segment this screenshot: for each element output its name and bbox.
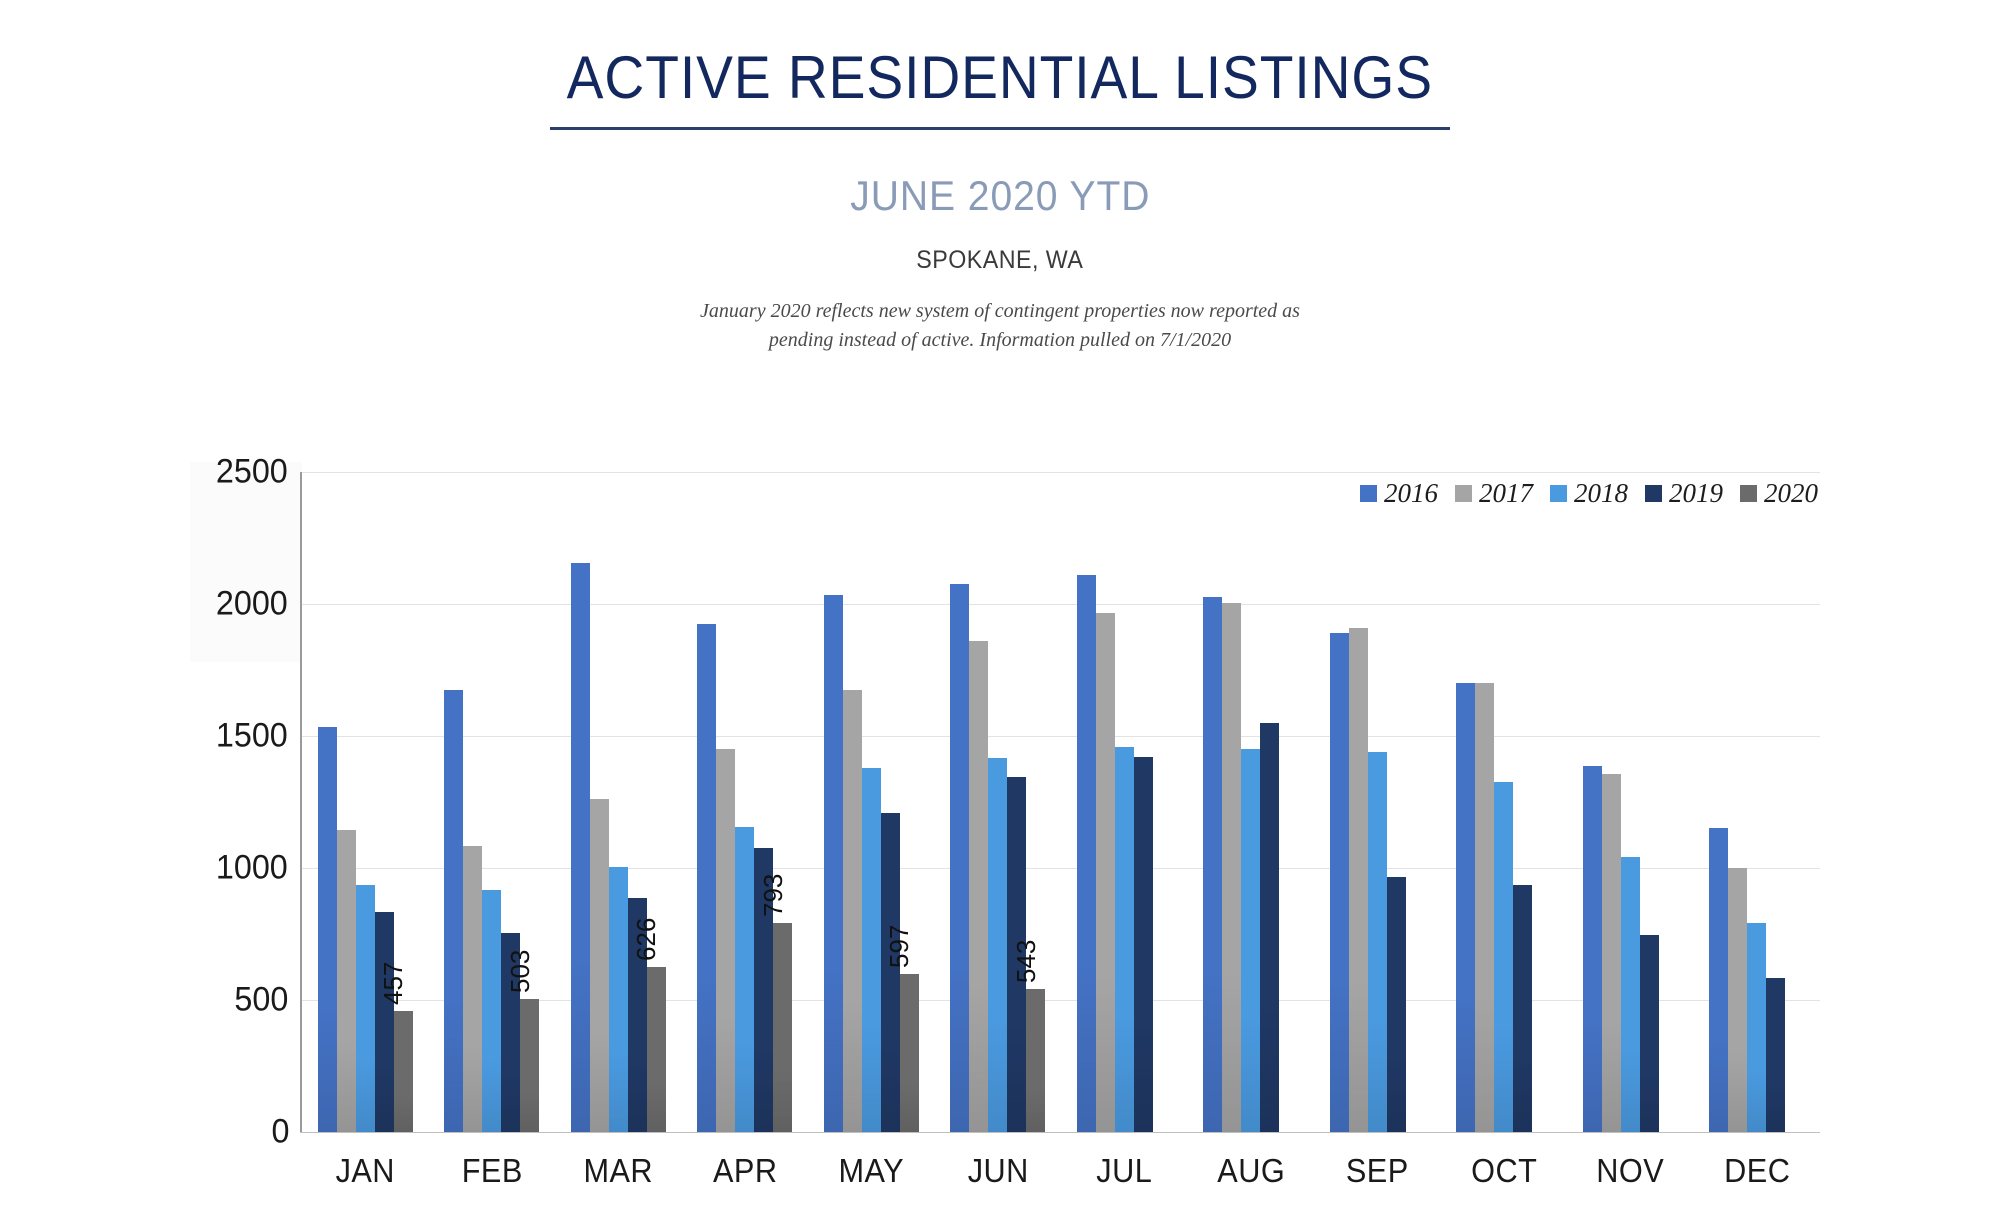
bar-2016-sep[interactable] — [1330, 633, 1349, 1132]
bar-fill — [773, 923, 792, 1132]
bar-fill — [1513, 885, 1532, 1132]
bar-2017-apr[interactable] — [716, 749, 735, 1132]
chart-subtitle: JUNE 2020 YTD — [850, 172, 1150, 220]
bar-fill — [862, 768, 881, 1132]
bar-2016-aug[interactable] — [1203, 597, 1222, 1132]
bar-fill — [1368, 752, 1387, 1132]
chart-header: ACTIVE RESIDENTIAL LISTINGS JUNE 2020 YT… — [0, 0, 2000, 355]
bar-2017-oct[interactable] — [1475, 683, 1494, 1132]
bar-fill — [571, 563, 590, 1132]
bar-fill — [356, 885, 375, 1132]
bar-group-jun: 543 — [935, 472, 1062, 1132]
bar-2018-dec[interactable] — [1747, 923, 1766, 1132]
bar-group-mar: 626 — [555, 472, 682, 1132]
chart-note: January 2020 reflects new system of cont… — [620, 297, 1380, 355]
bar-fill — [1583, 766, 1602, 1132]
bar-2020-jan[interactable]: 457 — [394, 1011, 413, 1132]
bar-fill — [1115, 747, 1134, 1132]
bar-2016-mar[interactable] — [571, 563, 590, 1132]
bar-2018-may[interactable] — [862, 768, 881, 1132]
bar-fill — [1349, 628, 1368, 1132]
bar-fill — [1747, 923, 1766, 1132]
bar-fill — [444, 690, 463, 1132]
page-title: ACTIVE RESIDENTIAL LISTINGS — [567, 46, 1433, 109]
x-tick-label-jul: JUL — [1065, 1152, 1183, 1190]
bar-group-may: 597 — [808, 472, 935, 1132]
bar-fill — [824, 595, 843, 1132]
bar-2016-oct[interactable] — [1456, 683, 1475, 1132]
bar-2018-mar[interactable] — [609, 867, 628, 1132]
bar-group-aug — [1188, 472, 1315, 1132]
bar-2019-may[interactable] — [881, 813, 900, 1132]
bar-2019-jul[interactable] — [1134, 757, 1153, 1132]
bar-fill — [1077, 575, 1096, 1132]
bar-2019-dec[interactable] — [1766, 978, 1785, 1132]
bar-fill — [375, 912, 394, 1132]
bar-group-dec — [1694, 472, 1821, 1132]
bar-fill — [1602, 774, 1621, 1132]
bar-2016-jan[interactable] — [318, 727, 337, 1132]
x-tick-label-mar: MAR — [559, 1152, 677, 1190]
x-tick-label-jan: JAN — [306, 1152, 424, 1190]
chart-note-line-2: pending instead of active. Information p… — [620, 326, 1380, 355]
bar-fill — [1096, 613, 1115, 1132]
bar-group-jul — [1061, 472, 1188, 1132]
bar-fill — [1260, 723, 1279, 1132]
bar-2019-oct[interactable] — [1513, 885, 1532, 1132]
x-tick-label-sep: SEP — [1318, 1152, 1436, 1190]
bar-2016-jul[interactable] — [1077, 575, 1096, 1132]
bar-2017-mar[interactable] — [590, 799, 609, 1132]
x-tick-label-apr: APR — [686, 1152, 804, 1190]
bar-fill — [609, 867, 628, 1132]
bar-2020-apr[interactable]: 793 — [773, 923, 792, 1132]
bar-fill — [1330, 633, 1349, 1132]
bar-2017-dec[interactable] — [1728, 868, 1747, 1132]
bar-group-sep — [1314, 472, 1441, 1132]
y-axis-tick-labels: 05001000150020002500 — [155, 472, 290, 1132]
bar-fill — [1728, 868, 1747, 1132]
bar-fill — [647, 967, 666, 1132]
bar-fill — [1766, 978, 1785, 1132]
bar-2018-jan[interactable] — [356, 885, 375, 1132]
bar-2020-may[interactable]: 597 — [900, 974, 919, 1132]
x-tick-label-jun: JUN — [939, 1152, 1057, 1190]
bar-fill — [1621, 857, 1640, 1132]
chart-container: 05001000150020002500 457503626793597543 … — [0, 452, 2000, 1227]
bar-2017-nov[interactable] — [1602, 774, 1621, 1132]
bar-fill — [1387, 877, 1406, 1132]
bar-2017-jun[interactable] — [969, 641, 988, 1132]
bar-value-label: 543 — [1011, 939, 1042, 982]
bar-2019-aug[interactable] — [1260, 723, 1279, 1132]
bar-2017-may[interactable] — [843, 690, 862, 1132]
bar-fill — [1203, 597, 1222, 1132]
bar-value-label: 626 — [631, 917, 662, 960]
bar-fill — [843, 690, 862, 1132]
bar-fill — [1222, 603, 1241, 1132]
chart-note-line-1: January 2020 reflects new system of cont… — [620, 297, 1380, 326]
bar-2020-feb[interactable]: 503 — [520, 999, 539, 1132]
bars-plot: 457503626793597543 — [302, 472, 1820, 1132]
bar-fill — [881, 813, 900, 1132]
bar-fill — [482, 890, 501, 1132]
bar-2018-nov[interactable] — [1621, 857, 1640, 1132]
bar-2018-jul[interactable] — [1115, 747, 1134, 1132]
bar-group-jan: 457 — [302, 472, 429, 1132]
y-tick-label: 500 — [235, 981, 289, 1020]
bar-2018-sep[interactable] — [1368, 752, 1387, 1132]
bar-value-label: 597 — [884, 925, 915, 968]
bar-fill — [520, 999, 539, 1132]
bar-group-oct — [1441, 472, 1568, 1132]
bar-2016-dec[interactable] — [1709, 828, 1728, 1132]
bar-fill — [463, 846, 482, 1132]
y-tick-label: 1000 — [216, 849, 288, 888]
bar-2020-jun[interactable]: 543 — [1026, 989, 1045, 1132]
x-tick-label-feb: FEB — [433, 1152, 551, 1190]
bar-group-feb: 503 — [429, 472, 556, 1132]
x-tick-label-dec: DEC — [1698, 1152, 1816, 1190]
bar-fill — [697, 624, 716, 1132]
x-tick-label-nov: NOV — [1571, 1152, 1689, 1190]
bar-fill — [1640, 935, 1659, 1132]
bar-group-nov — [1567, 472, 1694, 1132]
bar-fill — [590, 799, 609, 1132]
bar-2016-apr[interactable] — [697, 624, 716, 1132]
bar-fill — [1456, 683, 1475, 1132]
bar-group-apr: 793 — [682, 472, 809, 1132]
bar-2020-mar[interactable]: 626 — [647, 967, 666, 1132]
bar-fill — [1026, 989, 1045, 1132]
gridline — [300, 1132, 1820, 1133]
bar-fill — [1134, 757, 1153, 1132]
bar-value-label: 457 — [378, 962, 409, 1005]
bar-value-label: 503 — [505, 950, 536, 993]
bar-2019-sep[interactable] — [1387, 877, 1406, 1132]
y-tick-label: 2500 — [216, 453, 288, 492]
bar-2018-aug[interactable] — [1241, 749, 1260, 1132]
bar-fill — [394, 1011, 413, 1132]
plot-area: 05001000150020002500 457503626793597543 — [300, 472, 1820, 1152]
bar-2017-jul[interactable] — [1096, 613, 1115, 1132]
bar-value-label: 793 — [758, 873, 789, 916]
bar-fill — [318, 727, 337, 1132]
subtitle-wrap: JUNE 2020 YTD — [0, 130, 2000, 220]
bar-fill — [1494, 782, 1513, 1132]
x-tick-label-may: MAY — [812, 1152, 930, 1190]
x-tick-label-aug: AUG — [1192, 1152, 1310, 1190]
bar-fill — [716, 749, 735, 1132]
bar-2016-jun[interactable] — [950, 584, 969, 1132]
bar-2019-nov[interactable] — [1640, 935, 1659, 1132]
bar-fill — [950, 584, 969, 1132]
bar-fill — [735, 827, 754, 1132]
bar-2016-feb[interactable] — [444, 690, 463, 1132]
bar-fill — [337, 830, 356, 1132]
bar-fill — [1475, 683, 1494, 1132]
bar-fill — [1709, 828, 1728, 1132]
y-tick-label: 0 — [272, 1113, 290, 1152]
bar-2018-apr[interactable] — [735, 827, 754, 1132]
bar-2017-aug[interactable] — [1222, 603, 1241, 1132]
chart-location: SPOKANE, WA — [916, 246, 1083, 275]
x-tick-label-oct: OCT — [1445, 1152, 1563, 1190]
y-tick-label: 2000 — [216, 585, 288, 624]
bar-2016-nov[interactable] — [1583, 766, 1602, 1132]
y-tick-label: 1500 — [216, 717, 288, 756]
bar-2018-oct[interactable] — [1494, 782, 1513, 1132]
bar-2017-sep[interactable] — [1349, 628, 1368, 1132]
city-wrap: SPOKANE, WA — [0, 220, 2000, 275]
bar-fill — [988, 758, 1007, 1132]
bar-2017-jan[interactable] — [337, 830, 356, 1132]
page-title-wrap: ACTIVE RESIDENTIAL LISTINGS — [0, 46, 2000, 109]
x-axis-tick-labels: JANFEBMARAPRMAYJUNJULAUGSEPOCTNOVDEC — [302, 1152, 1820, 1190]
bar-2018-jun[interactable] — [988, 758, 1007, 1132]
bar-2016-may[interactable] — [824, 595, 843, 1132]
bar-2017-feb[interactable] — [463, 846, 482, 1132]
bar-fill — [1241, 749, 1260, 1132]
bar-2019-jan[interactable] — [375, 912, 394, 1132]
bar-fill — [900, 974, 919, 1132]
bar-fill — [969, 641, 988, 1132]
bar-2018-feb[interactable] — [482, 890, 501, 1132]
